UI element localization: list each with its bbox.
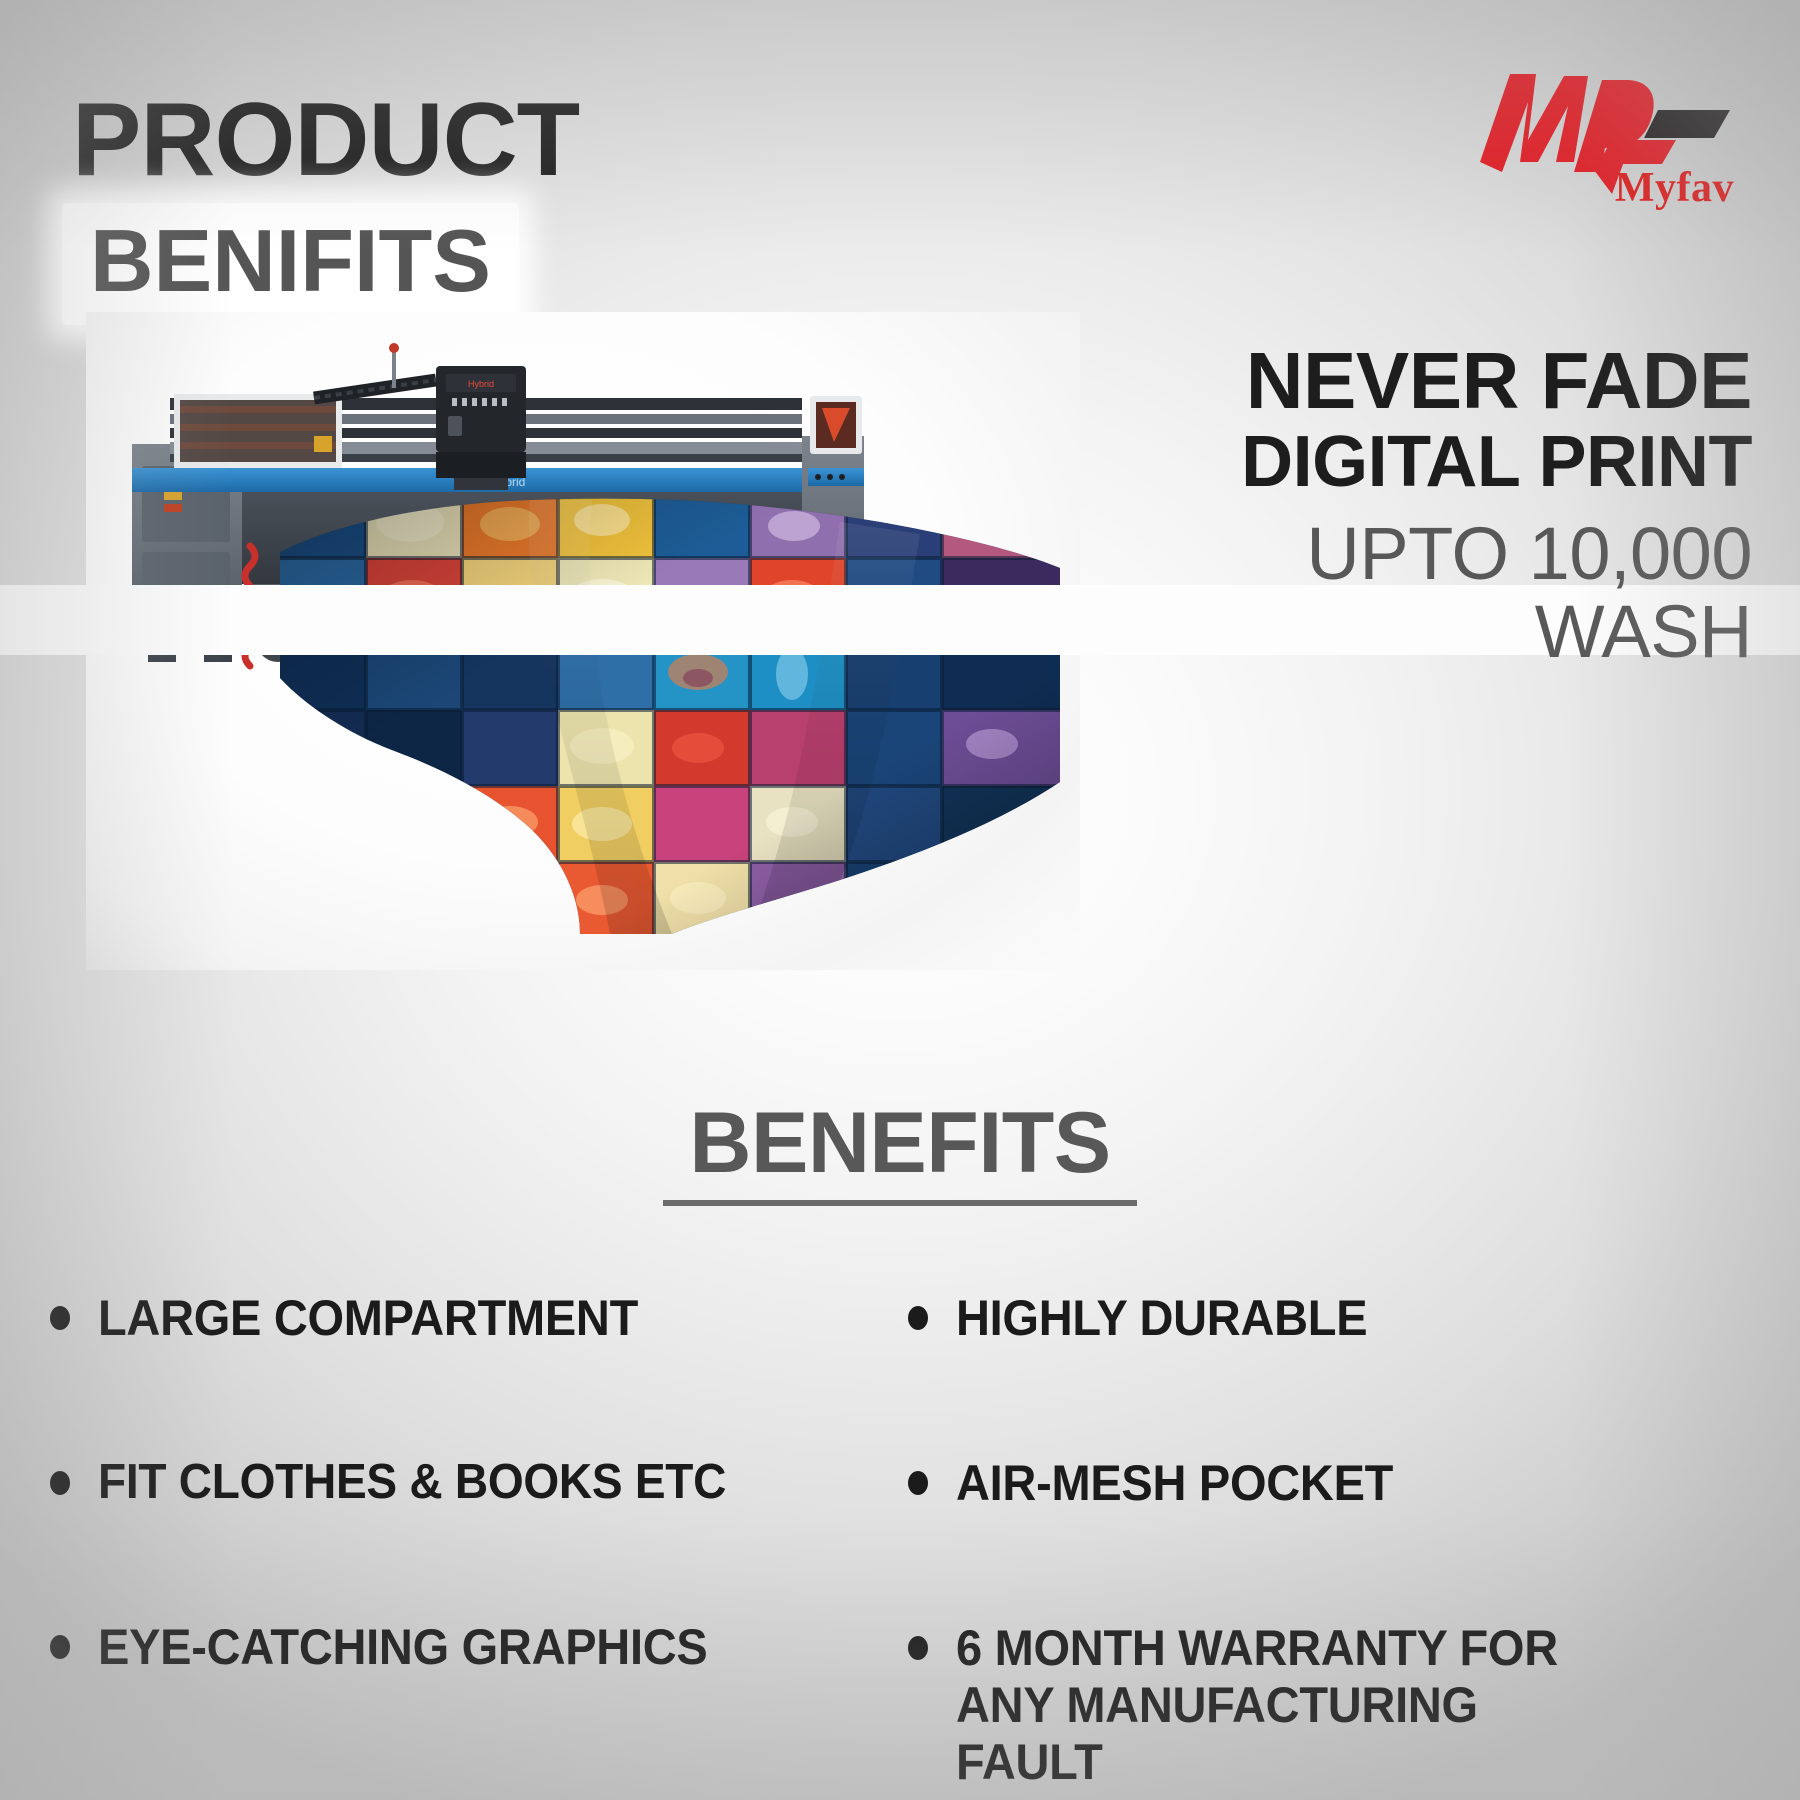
benefits-columns: LARGE COMPARTMENT FIT CLOTHES & BOOKS ET… [0,1290,1800,1800]
bullet-dot-icon [908,1636,928,1660]
list-item-label: EYE-CATCHING GRAPHICS [98,1619,707,1676]
section-title-benefits-label: BENEFITS [663,1100,1136,1206]
svg-text:Hybrid: Hybrid [468,379,494,389]
list-item: 6 MONTH WARRANTY FOR ANY MANUFACTURING F… [908,1620,1800,1791]
list-item: FIT CLOTHES & BOOKS ETC [50,1455,900,1511]
bullet-dot-icon [50,1306,70,1330]
logo-wordmark: Myfav [1615,164,1734,212]
page-title-product: PRODUCT [72,88,579,192]
section-title-benefits: BENEFITS [0,1100,1800,1206]
benefits-column-right: HIGHLY DURABLE AIR-MESH POCKET 6 MONTH W… [900,1290,1800,1800]
page-title-benifits-box: BENIFITS [62,203,519,325]
list-item-label: LARGE COMPARTMENT [98,1290,638,1347]
list-item: AIR-MESH POCKET [908,1455,1800,1512]
list-item: HIGHLY DURABLE [908,1290,1800,1347]
list-item: LARGE COMPARTMENT [50,1290,900,1347]
list-item-label: HIGHLY DURABLE [956,1290,1367,1347]
claim-digital-print: DIGITAL PRINT [992,426,1752,499]
claim-wash: WASH [992,593,1752,671]
claim-upto-washes: UPTO 10,000 [992,515,1752,593]
brand-logo: Myfav [1462,44,1742,214]
headline-claims: NEVER FADE DIGITAL PRINT UPTO 10,000 WAS… [992,340,1752,670]
list-item-label: FIT CLOTHES & BOOKS ETC [98,1455,726,1511]
bullet-dot-icon [908,1306,928,1330]
bullet-dot-icon [50,1471,70,1495]
bullet-dot-icon [908,1471,928,1495]
page-title-benifits: BENIFITS [90,217,491,305]
poster-canvas: PRODUCT BENIFITS Myfav [0,0,1800,1800]
claim-never-fade: NEVER FADE [992,340,1752,422]
benefits-column-left: LARGE COMPARTMENT FIT CLOTHES & BOOKS ET… [0,1290,900,1800]
printed-fabric-illustration [280,482,1060,934]
list-item-label: 6 MONTH WARRANTY FOR ANY MANUFACTURING F… [956,1620,1558,1791]
bullet-dot-icon [50,1635,70,1659]
list-item-label: AIR-MESH POCKET [956,1455,1393,1512]
list-item: EYE-CATCHING GRAPHICS [50,1619,900,1676]
